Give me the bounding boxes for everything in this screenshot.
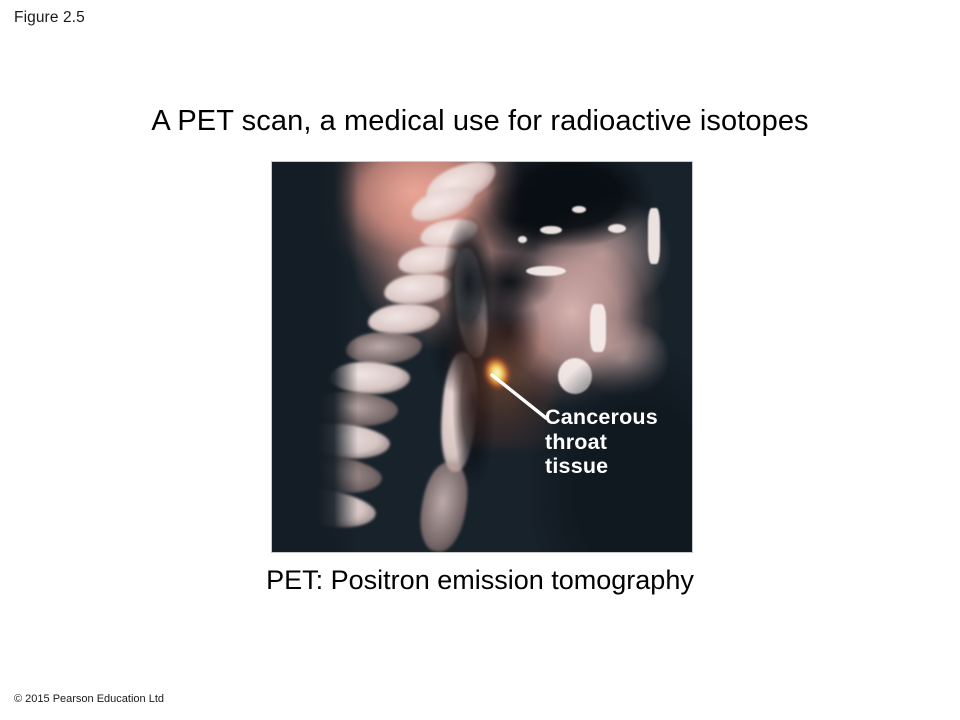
copyright-notice: © 2015 Pearson Education Ltd: [14, 692, 164, 706]
figure-caption: PET: Positron emission tomography: [0, 563, 960, 597]
annotation-line-3: tissue: [545, 454, 658, 479]
figure-number: Figure 2.5: [14, 8, 85, 28]
annotation-label: Cancerous throat tissue: [545, 405, 658, 479]
annotation-line-2: throat: [545, 430, 658, 455]
scan-background-lower-right: [272, 162, 692, 552]
pet-scan-image: Cancerous throat tissue: [272, 162, 692, 552]
page-title: A PET scan, a medical use for radioactiv…: [0, 103, 960, 139]
annotation-line-1: Cancerous: [545, 405, 658, 430]
pet-scan-figure: Cancerous throat tissue: [272, 162, 692, 552]
